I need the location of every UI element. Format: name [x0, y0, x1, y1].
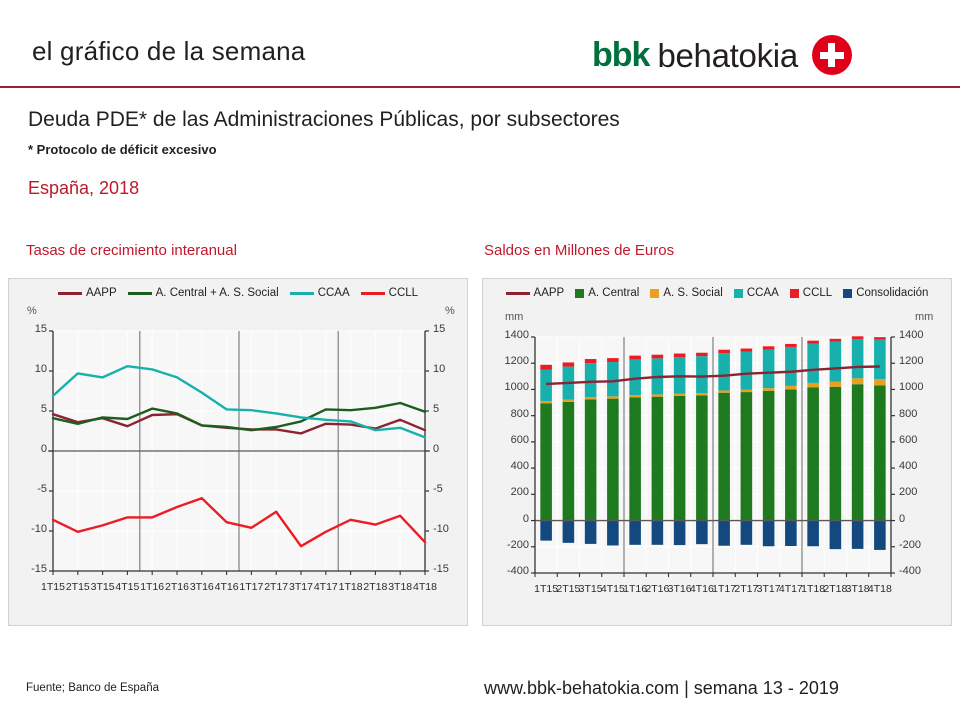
bar-segment [852, 339, 864, 378]
line-chart-panel: AAPPA. Central + A. S. SocialCCAACCLL % … [8, 278, 468, 626]
bar-segment [763, 349, 775, 388]
bar-segment-negative [807, 521, 819, 547]
bar-segment [629, 397, 641, 520]
bar-segment [741, 390, 753, 392]
page-title: el gráfico de la semana [32, 36, 305, 67]
footer-web-link[interactable]: www.bbk-behatokia.com | semana 13 - 2019 [484, 678, 839, 699]
chart-region-label: España, 2018 [28, 178, 139, 199]
bar-segment [741, 349, 753, 352]
bar-segment [563, 400, 575, 402]
bar-segment [785, 386, 797, 390]
header-divider [0, 86, 960, 88]
bar-segment [652, 355, 664, 359]
bar-segment-negative [830, 521, 842, 550]
y-tick-label-right: 5 [433, 403, 461, 415]
bar-segment-negative [718, 521, 730, 546]
y-tick-label-left: -5 [19, 483, 47, 495]
bar-segment [652, 397, 664, 521]
bar-segment [830, 339, 842, 342]
y-tick-label-left: 600 [493, 434, 529, 446]
bar-segment [874, 379, 886, 386]
bar-segment [807, 387, 819, 520]
bar-segment [652, 394, 664, 396]
line-chart-svg [9, 279, 469, 627]
bar-segment [830, 382, 842, 387]
bar-segment-negative [629, 521, 641, 545]
bar-segment [718, 390, 730, 392]
bar-segment [629, 356, 641, 360]
y-tick-label-left: 5 [19, 403, 47, 415]
bar-segment-negative [696, 521, 708, 545]
y-tick-label-left: -15 [19, 563, 47, 575]
bar-segment [763, 391, 775, 521]
y-tick-label-left: 800 [493, 408, 529, 420]
bar-segment-negative [741, 521, 753, 545]
y-tick-label-left: 0 [19, 443, 47, 455]
bar-segment [852, 378, 864, 384]
bar-segment-negative [540, 521, 552, 541]
bar-segment [830, 387, 842, 521]
y-tick-label-right: 800 [899, 408, 935, 420]
bar-segment-negative [607, 521, 619, 546]
y-tick-label-left: 200 [493, 486, 529, 498]
bar-segment-negative [852, 521, 864, 549]
bar-segment [629, 395, 641, 397]
y-tick-label-right: 0 [433, 443, 461, 455]
brand-logo: bbk behatokia [592, 34, 852, 76]
bar-segment [718, 393, 730, 521]
bar-segment-negative [563, 521, 575, 543]
bar-segment [607, 358, 619, 362]
bar-segment [741, 352, 753, 390]
bar-segment [674, 396, 686, 521]
y-tick-label-left: 10 [19, 363, 47, 375]
right-panel-heading: Saldos en Millones de Euros [484, 242, 674, 259]
y-tick-label-right: -5 [433, 483, 461, 495]
y-tick-label-right: -15 [433, 563, 461, 575]
bar-segment [874, 340, 886, 379]
logo-bbk-text: bbk [592, 38, 649, 72]
header: el gráfico de la semana bbk behatokia [0, 0, 960, 88]
bar-segment [540, 403, 552, 520]
bar-segment [852, 336, 864, 339]
y-tick-label-left: -400 [493, 565, 529, 577]
y-tick-label-left: 1000 [493, 381, 529, 393]
bar-segment [874, 337, 886, 339]
bar-segment [674, 394, 686, 396]
bar-segment [785, 347, 797, 386]
bar-segment [807, 383, 819, 388]
bar-segment [718, 353, 730, 390]
bar-segment [807, 344, 819, 383]
y-tick-label-left: 1400 [493, 329, 529, 341]
bar-segment [585, 397, 597, 399]
bar-segment [540, 370, 552, 401]
bar-segment [585, 359, 597, 363]
slide-root: el gráfico de la semana bbk behatokia De… [0, 0, 960, 720]
bar-segment [585, 363, 597, 397]
bar-segment [540, 401, 552, 403]
y-tick-label-right: 400 [899, 460, 935, 472]
bar-segment [563, 362, 575, 366]
y-tick-label-right: -200 [899, 539, 935, 551]
bar-segment [718, 350, 730, 353]
bar-segment [741, 392, 753, 520]
bar-segment [674, 354, 686, 358]
y-tick-label-right: 1200 [899, 355, 935, 367]
y-tick-label-right: 1000 [899, 381, 935, 393]
y-tick-label-left: 15 [19, 323, 47, 335]
bar-segment-negative [874, 521, 886, 550]
bar-segment [607, 399, 619, 521]
bar-segment [807, 341, 819, 344]
bar-segment [696, 395, 708, 520]
logo-behatokia-text: behatokia [657, 39, 797, 72]
chart-title-footnote: * Protocolo de déficit excesivo [28, 142, 217, 157]
bar-segment-negative [674, 521, 686, 546]
bar-segment [874, 386, 886, 521]
x-axis-label: 4T18 [864, 583, 896, 595]
y-tick-label-right: 10 [433, 363, 461, 375]
red-cross-badge-icon [812, 35, 852, 75]
bar-segment [563, 402, 575, 521]
bar-segment [607, 362, 619, 396]
bar-segment [696, 353, 708, 356]
y-tick-label-left: 0 [493, 513, 529, 525]
bar-segment [830, 342, 842, 382]
bar-segment [785, 389, 797, 520]
bar-chart-svg [483, 279, 953, 627]
chart-main-title: Deuda PDE* de las Administraciones Públi… [28, 108, 620, 132]
bar-segment [785, 344, 797, 347]
left-panel-heading: Tasas de crecimiento interanual [26, 242, 237, 259]
bar-segment-negative [785, 521, 797, 546]
y-tick-label-right: 0 [899, 513, 935, 525]
bar-segment [852, 384, 864, 520]
y-tick-label-left: -10 [19, 523, 47, 535]
bar-segment [540, 365, 552, 370]
y-tick-label-right: 600 [899, 434, 935, 446]
bar-segment-negative [652, 521, 664, 545]
y-tick-label-right: -10 [433, 523, 461, 535]
x-axis-label: 4T18 [408, 581, 442, 593]
source-note: Fuente; Banco de España [26, 682, 159, 694]
bar-segment [585, 399, 597, 520]
y-tick-label-right: 15 [433, 323, 461, 335]
bar-segment-negative [585, 521, 597, 544]
y-tick-label-left: 400 [493, 460, 529, 472]
y-tick-label-right: 200 [899, 486, 935, 498]
y-tick-label-right: 1400 [899, 329, 935, 341]
y-tick-label-right: -400 [899, 565, 935, 577]
bar-segment [763, 346, 775, 349]
stacked-bar-chart-panel: AAPPA. CentralA. S. SocialCCAACCLLConsol… [482, 278, 952, 626]
bar-segment [763, 388, 775, 391]
y-tick-label-left: 1200 [493, 355, 529, 367]
bar-segment [607, 396, 619, 398]
y-tick-label-left: -200 [493, 539, 529, 551]
bar-segment [696, 393, 708, 395]
bar-segment-negative [763, 521, 775, 547]
bar-segment [696, 356, 708, 393]
